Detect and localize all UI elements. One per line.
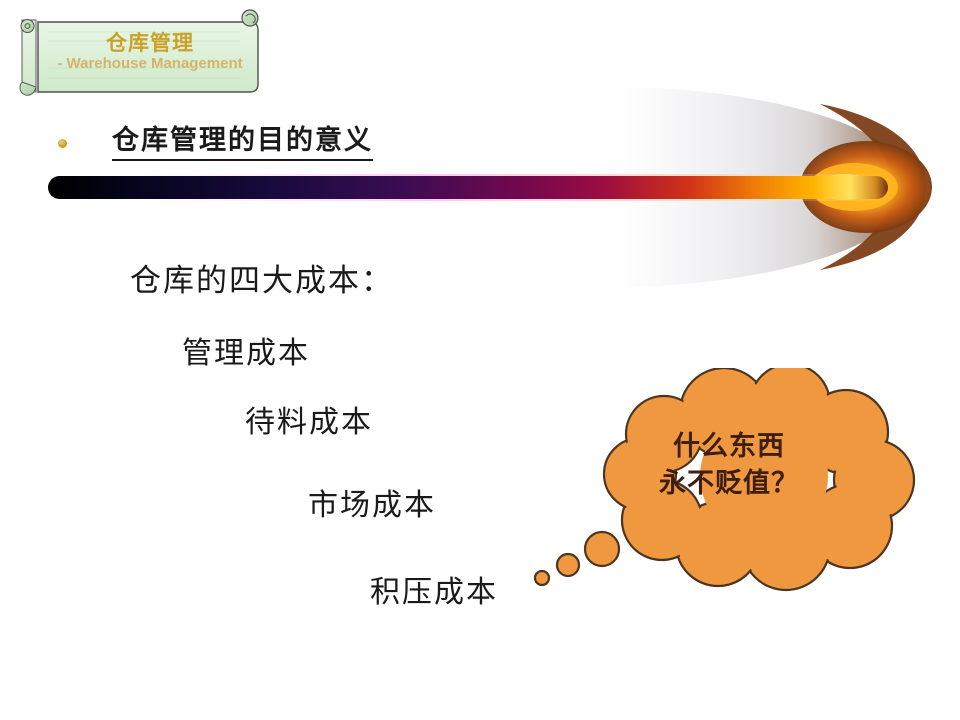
cost-item-market: 市场成本	[308, 480, 436, 524]
costs-intro-label: 仓库的四大成本：	[130, 255, 394, 300]
banner-title-english-row: - Warehouse Management	[57, 56, 242, 72]
banner-title-english: Warehouse Management	[67, 55, 243, 72]
thought-bubble-line-1: 什么东西	[624, 428, 834, 465]
cost-item-waiting-material: 待料成本	[245, 397, 373, 441]
thought-bubble-text: 什么东西 永不贬值？	[624, 428, 834, 503]
thought-tail-dot-medium	[557, 554, 579, 576]
thought-bubble: 什么东西 永不贬值？	[528, 368, 934, 600]
round-bullet-icon	[58, 139, 67, 148]
scroll-banner: 仓库管理 - Warehouse Management	[14, 8, 266, 96]
banner-title-block: 仓库管理 - Warehouse Management	[36, 8, 264, 96]
cost-item-management: 管理成本	[182, 328, 310, 372]
page-title: 仓库管理的目的意义	[112, 126, 373, 161]
thought-tail-dot-large	[585, 532, 619, 566]
section-heading-row: 仓库管理的目的意义	[58, 126, 373, 161]
banner-title-chinese: 仓库管理	[106, 33, 194, 55]
thought-bubble-line-2: 永不贬值？	[624, 465, 834, 502]
slide-canvas: 仓库管理 - Warehouse Management 仓库管理的目的意义 仓库…	[0, 0, 960, 720]
thought-tail-dot-small	[535, 571, 549, 585]
cost-item-overstock: 积压成本	[370, 567, 498, 611]
banner-dash: -	[57, 55, 62, 72]
